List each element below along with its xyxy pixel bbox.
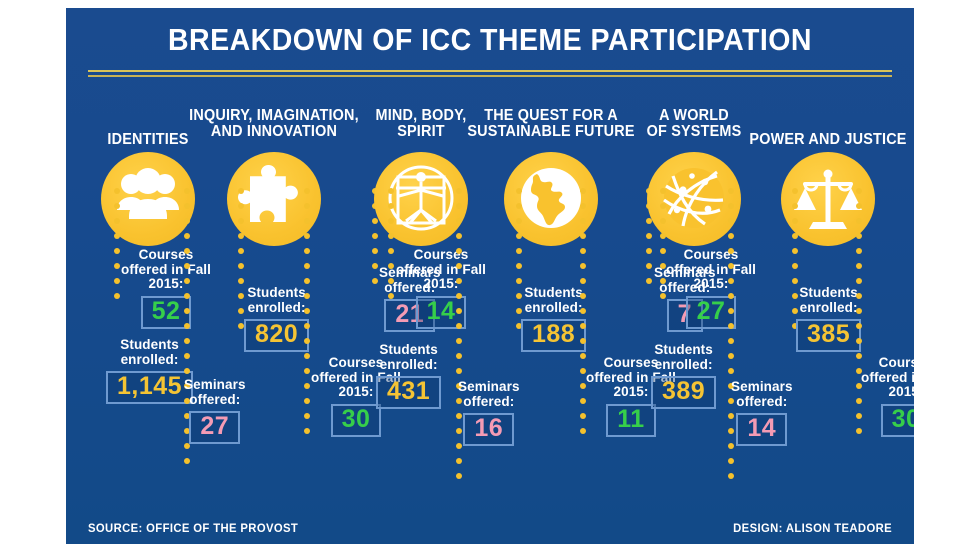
stat-value-box-students-world-of-systems: 389 [651,376,716,409]
stat-students-quest-sustainable-future: Studentsenrolled:188 [521,286,586,352]
stat-label-students: Studentsenrolled: [651,343,716,372]
stat-value-seminars: 16 [474,414,503,442]
stat-value-box-courses-inquiry-imagination-innovation: 30 [331,404,382,437]
page-title: BREAKDOWN OF ICC THEME PARTICIPATION [100,22,880,58]
stat-value-box-students-inquiry-imagination-innovation: 820 [244,319,309,352]
stat-value-box-seminars-mind-body-spirit: 16 [463,413,514,446]
stat-label-students: Studentsenrolled: [244,286,309,315]
theme-title-world-of-systems: A WORLDOF SYSTEMS [647,108,742,140]
dotted-connector-mind-body-spirit-courses [388,188,395,308]
stat-value-students: 431 [387,377,430,405]
theme-title-power-and-justice: POWER AND JUSTICE [749,132,906,148]
stat-students-identities: Studentsenrolled:1,145 [106,338,193,404]
stat-value-courses: 30 [342,405,371,433]
stat-value-students: 820 [255,320,298,348]
stat-value-box-students-quest-sustainable-future: 188 [521,319,586,352]
design-credit: DESIGN: ALISON TEADORE [733,521,892,535]
stat-label-courses: Coursesoffered in Fall2015: [861,356,914,400]
stat-label-students: Studentsenrolled: [106,338,193,367]
infographic-poster: BREAKDOWN OF ICC THEME PARTICIPATION IDE… [66,8,914,544]
stat-value-students: 389 [662,377,705,405]
stat-students-power-and-justice: Studentsenrolled:385 [796,286,861,352]
stat-value-courses: 14 [427,297,456,325]
stat-seminars-world-of-systems: Seminarsoffered:14 [731,380,793,446]
stat-value-box-courses-power-and-justice: 30 [881,404,914,437]
stat-courses-mind-body-spirit: Coursesoffered in Fall2015:14 [396,248,486,329]
stat-students-mind-body-spirit: Studentsenrolled:431 [376,343,441,409]
stat-value-students: 188 [532,320,575,348]
dotted-connector-inquiry-imagination-innovation-courses [304,188,311,443]
theme-title-mind-body-spirit: MIND, BODY,SPIRIT [376,108,467,140]
stat-courses-identities: Coursesoffered in Fall2015:52 [121,248,211,329]
stat-label-seminars: Seminarsoffered: [731,380,793,409]
stat-value-courses: 52 [152,297,181,325]
stat-value-courses: 30 [892,405,914,433]
stat-value-box-courses-quest-sustainable-future: 11 [606,404,655,437]
stat-label-students: Studentsenrolled: [376,343,441,372]
stat-value-box-students-mind-body-spirit: 431 [376,376,441,409]
stat-label-courses: Coursesoffered in Fall2015: [121,248,211,292]
title-rule-bottom [88,75,892,77]
stat-label-students: Studentsenrolled: [796,286,861,315]
title-rule-top [88,70,892,72]
stat-value-courses: 11 [617,405,644,433]
stat-value-box-seminars-identities: 27 [189,411,240,444]
theme-title-identities: IDENTITIES [107,132,188,148]
poster-frame: BREAKDOWN OF ICC THEME PARTICIPATION IDE… [66,8,914,544]
stat-students-inquiry-imagination-innovation: Studentsenrolled:820 [244,286,309,352]
stat-label-courses: Coursesoffered in Fall2015: [396,248,486,292]
stat-value-seminars: 14 [747,414,776,442]
stat-seminars-identities: Seminarsoffered:27 [184,378,246,444]
source-credit: SOURCE: OFFICE OF THE PROVOST [88,521,298,535]
stat-label-seminars: Seminarsoffered: [184,378,246,407]
theme-title-quest-sustainable-future: THE QUEST FOR ASUSTAINABLE FUTURE [467,108,634,140]
stat-value-students: 385 [807,320,850,348]
stat-courses-power-and-justice: Coursesoffered in Fall2015:30 [861,356,914,437]
stat-courses-world-of-systems: Coursesoffered in Fall2015:27 [666,248,756,329]
stat-value-box-students-power-and-justice: 385 [796,319,861,352]
stat-value-courses: 27 [697,297,726,325]
stat-seminars-mind-body-spirit: Seminarsoffered:16 [458,380,520,446]
dotted-connector-identities-courses [114,188,121,308]
stat-value-box-students-identities: 1,145 [106,371,193,404]
stat-students-world-of-systems: Studentsenrolled:389 [651,343,716,409]
stat-value-students: 1,145 [117,372,182,400]
stat-value-seminars: 27 [200,412,229,440]
theme-title-inquiry-imagination-innovation: INQUIRY, IMAGINATION,AND INNOVATION [189,108,359,140]
stat-label-students: Studentsenrolled: [521,286,586,315]
stat-label-courses: Coursesoffered in Fall2015: [666,248,756,292]
stat-label-seminars: Seminarsoffered: [458,380,520,409]
stat-value-box-seminars-world-of-systems: 14 [736,413,787,446]
